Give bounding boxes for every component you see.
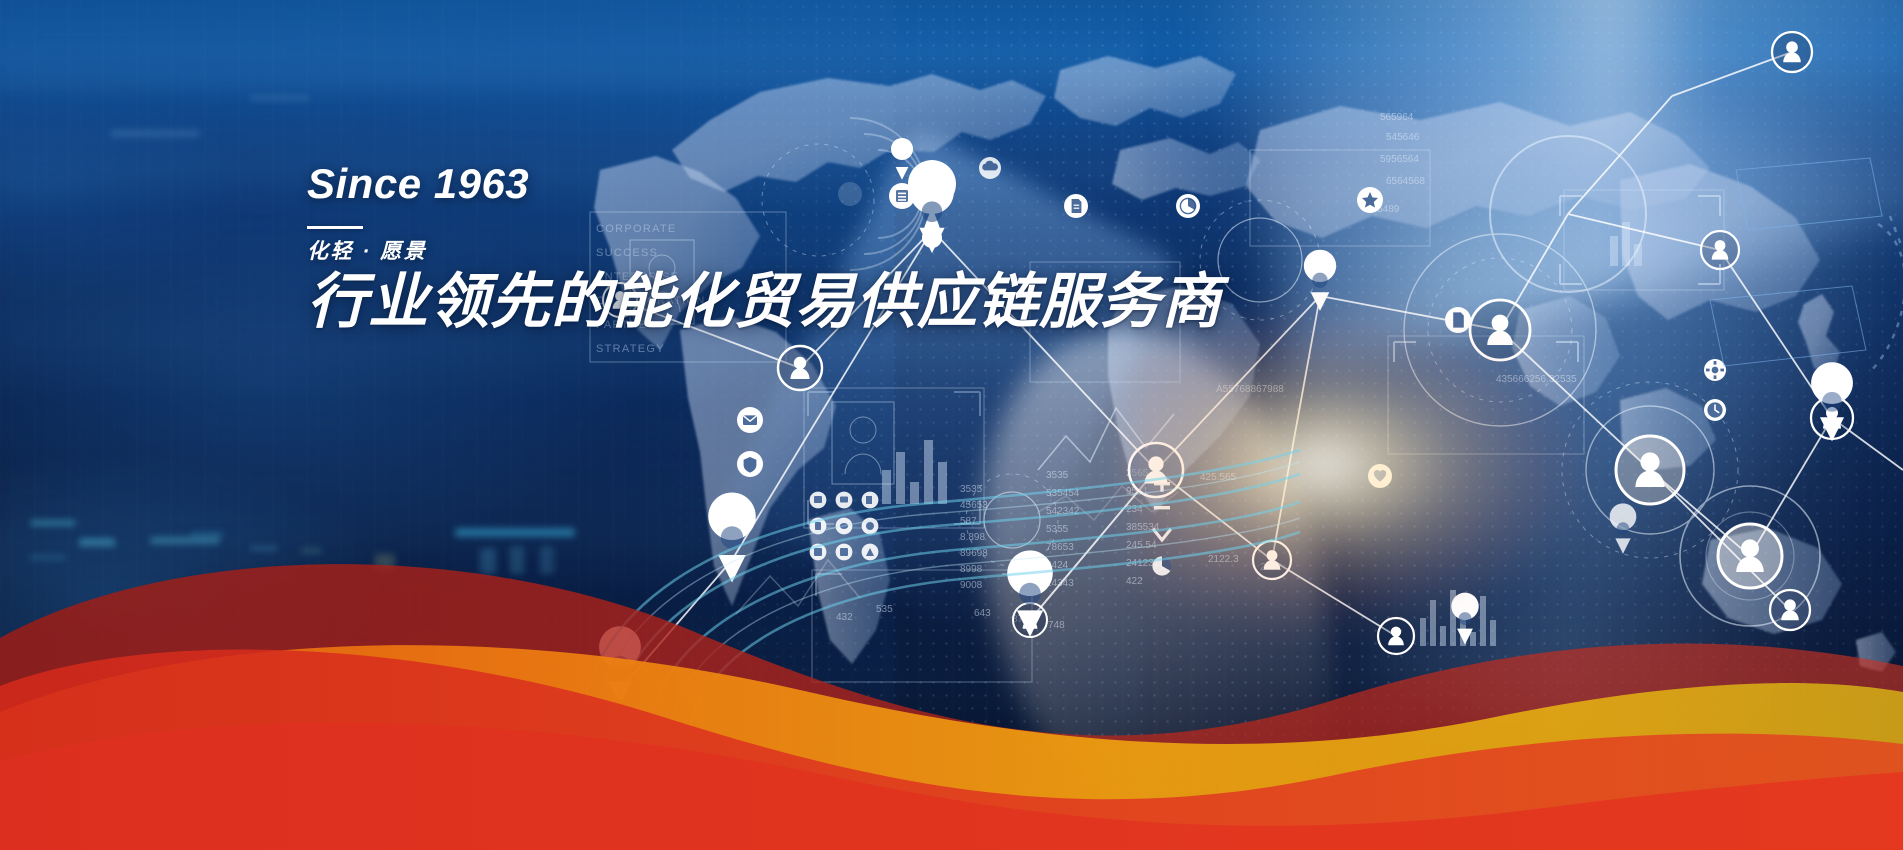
svg-text:535454: 535454 [1046, 488, 1080, 499]
mail-icon [737, 407, 763, 433]
eyebrow-since: Since 1963 [307, 163, 1222, 205]
heart-icon [1368, 464, 1392, 488]
subtitle-vision: 化轻 · 愿景 [307, 239, 1222, 264]
bokeh-light [250, 95, 310, 101]
svg-text:425.565: 425.565 [1200, 472, 1237, 483]
svg-text:435666256.32535: 435666256.32535 [1496, 374, 1577, 385]
star-icon [1357, 187, 1383, 213]
document-icon [1445, 307, 1471, 333]
divider-rule [307, 226, 363, 229]
bokeh-light [110, 130, 200, 137]
page-title: 行业领先的能化贸易供应链服务商 [307, 270, 1222, 333]
clock-icon [1704, 399, 1726, 421]
svg-text:5956564: 5956564 [1380, 154, 1419, 165]
map-pin-icon [1304, 250, 1336, 311]
svg-text:A55768867988: A55768867988 [1216, 384, 1284, 395]
svg-text:STRATEGY: STRATEGY [596, 343, 665, 355]
bottom-wave-decoration [0, 510, 1903, 850]
gear-icon [1704, 359, 1726, 381]
svg-text:3535: 3535 [1046, 470, 1069, 481]
hero-banner: CORPORATE SUCCESS ENTERPRISE COLLABORATI… [0, 0, 1903, 850]
svg-text:6564568: 6564568 [1386, 176, 1425, 187]
svg-text:545646: 545646 [1386, 132, 1420, 143]
hero-text-block: Since 1963 化轻 · 愿景 行业领先的能化贸易供应链服务商 [307, 163, 1222, 333]
dashed-path [1870, 216, 1903, 372]
shield-icon [737, 451, 763, 477]
svg-text:3535: 3535 [960, 484, 983, 495]
svg-text:565964: 565964 [1380, 112, 1414, 123]
